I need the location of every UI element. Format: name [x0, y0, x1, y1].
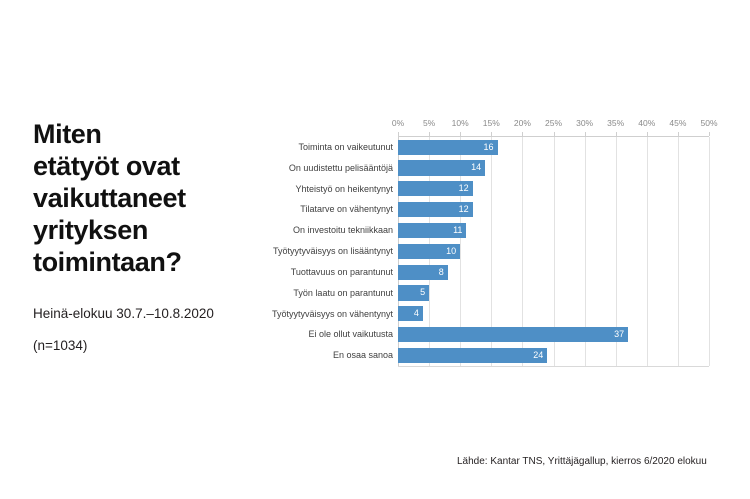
category-label: Tilatarve on vähentynyt — [300, 199, 393, 220]
x-axis-tick-label: 0% — [392, 118, 404, 128]
x-axis-tick-label: 10% — [452, 118, 469, 128]
category-label: Työtyytyväisyys on lisääntynyt — [273, 241, 393, 262]
page-title: Miten etätyöt ovat vaikuttaneet yritykse… — [33, 118, 273, 278]
category-label: On uudistettu pelisääntöjä — [289, 158, 393, 179]
bar-row[interactable]: En osaa sanoa24 — [398, 345, 709, 366]
bar-rows: Toiminta on vaikeutunut16On uudistettu p… — [398, 137, 709, 366]
x-axis-tick-label: 5% — [423, 118, 435, 128]
category-label: Työtyytyväisyys on vähentynyt — [272, 304, 393, 325]
bar[interactable]: 8 — [398, 265, 448, 280]
bar-value-label: 5 — [420, 285, 425, 300]
bar-row[interactable]: Työtyytyväisyys on vähentynyt4 — [398, 304, 709, 325]
bar[interactable]: 16 — [398, 140, 498, 155]
category-label: Toiminta on vaikeutunut — [298, 137, 393, 158]
x-axis-tick-mark — [709, 132, 710, 136]
bar[interactable]: 10 — [398, 244, 460, 259]
category-label: Työn laatu on parantunut — [293, 283, 393, 304]
bar-value-label: 8 — [439, 265, 444, 280]
bar-value-label: 12 — [459, 202, 469, 217]
chart-header-panel: Miten etätyöt ovat vaikuttaneet yritykse… — [33, 118, 273, 355]
x-axis-tick-label: 30% — [576, 118, 593, 128]
x-axis-tick-label: 50% — [700, 118, 717, 128]
x-axis-tick-label: 40% — [638, 118, 655, 128]
bar[interactable]: 37 — [398, 327, 628, 342]
bar[interactable]: 24 — [398, 348, 547, 363]
x-axis-tick-label: 20% — [514, 118, 531, 128]
bar-value-label: 24 — [533, 348, 543, 363]
category-label: Yhteistyö on heikentynyt — [295, 179, 393, 200]
category-label: Ei ole ollut vaikutusta — [308, 324, 393, 345]
bar-row[interactable]: On investoitu tekniikkaan11 — [398, 220, 709, 241]
bar-row[interactable]: Yhteistyö on heikentynyt12 — [398, 179, 709, 200]
category-label: En osaa sanoa — [333, 345, 393, 366]
bar[interactable]: 14 — [398, 160, 485, 175]
bar-row[interactable]: Työn laatu on parantunut5 — [398, 283, 709, 304]
bar[interactable]: 5 — [398, 285, 429, 300]
bar[interactable]: 12 — [398, 181, 473, 196]
bar-chart: 0%5%10%15%20%25%30%35%40%45%50% Toiminta… — [275, 118, 715, 368]
x-axis-tick-labels: 0%5%10%15%20%25%30%35%40%45%50% — [398, 118, 709, 132]
x-axis-tick-label: 45% — [669, 118, 686, 128]
bar-value-label: 4 — [414, 306, 419, 321]
bar[interactable]: 11 — [398, 223, 466, 238]
bar-value-label: 37 — [614, 327, 624, 342]
bar-row[interactable]: Ei ole ollut vaikutusta37 — [398, 324, 709, 345]
source-note: Lähde: Kantar TNS, Yrittäjägallup, kierr… — [457, 456, 707, 467]
bar-value-label: 12 — [459, 181, 469, 196]
chart-sample-size: (n=1034) — [33, 337, 273, 355]
bar[interactable]: 12 — [398, 202, 473, 217]
bar-row[interactable]: Toiminta on vaikeutunut16 — [398, 137, 709, 158]
x-axis-tick-label: 25% — [545, 118, 562, 128]
plot-area: Toiminta on vaikeutunut16On uudistettu p… — [398, 136, 709, 367]
bar[interactable]: 4 — [398, 306, 423, 321]
chart-subtitle: Heinä-elokuu 30.7.–10.8.2020 — [33, 305, 273, 323]
bar-row[interactable]: Tuottavuus on parantunut8 — [398, 262, 709, 283]
x-axis-tick-label: 15% — [483, 118, 500, 128]
bar-row[interactable]: Työtyytyväisyys on lisääntynyt10 — [398, 241, 709, 262]
bar-value-label: 14 — [471, 160, 481, 175]
bar-value-label: 11 — [453, 223, 462, 238]
x-axis-tick-label: 35% — [607, 118, 624, 128]
gridline — [709, 137, 710, 366]
category-label: On investoitu tekniikkaan — [293, 220, 393, 241]
bar-value-label: 10 — [446, 244, 456, 259]
bar-row[interactable]: On uudistettu pelisääntöjä14 — [398, 158, 709, 179]
bar-row[interactable]: Tilatarve on vähentynyt12 — [398, 199, 709, 220]
category-label: Tuottavuus on parantunut — [291, 262, 393, 283]
bar-value-label: 16 — [484, 140, 494, 155]
